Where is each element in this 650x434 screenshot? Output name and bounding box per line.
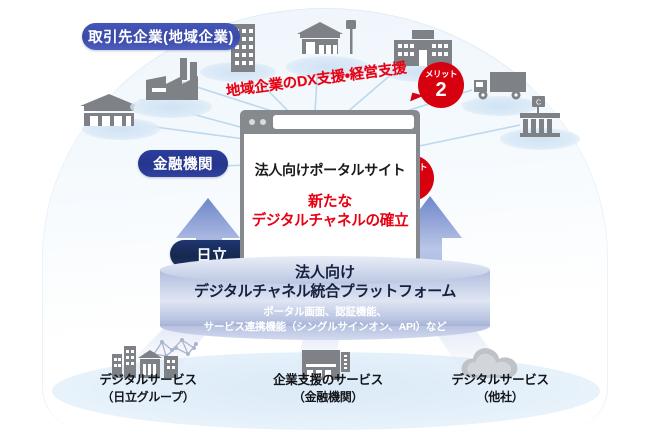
service-owner: （他社） bbox=[430, 389, 570, 405]
service-name: デジタルサービス bbox=[451, 373, 548, 387]
factory-icon bbox=[142, 56, 202, 109]
service-owner: （金融機関） bbox=[248, 389, 408, 405]
browser-titlebar bbox=[240, 110, 420, 134]
browser-address-bar[interactable] bbox=[273, 115, 414, 129]
browser-dot-icon bbox=[249, 119, 255, 125]
service-owner: （日立グループ） bbox=[78, 389, 218, 405]
warehouse-icon bbox=[78, 92, 140, 133]
browser-content: 法人向けポータルサイト 新たな デジタルチャネルの確立 bbox=[240, 134, 420, 270]
merit-number: 2 bbox=[435, 80, 446, 100]
svg-text:C: C bbox=[536, 99, 541, 106]
shop-storefront-icon bbox=[296, 18, 360, 69]
badge-partner-companies: 取引先企業(地域企業) bbox=[82, 23, 240, 50]
portal-browser-window: 法人向けポータルサイト 新たな デジタルチャネルの確立 bbox=[240, 110, 420, 270]
platform-sub-line1: ポータル画面、認証機能、 bbox=[160, 305, 490, 320]
badge-financial-institution: 金融機関 bbox=[138, 150, 228, 177]
service-label-financial: 企業支援のサービス （金融機関） bbox=[248, 372, 408, 405]
diagram-canvas: C 取引先企業(地域企業) 金融機関 日立 地域企業のDX支援・経営支援 メリッ… bbox=[0, 0, 650, 434]
portal-highlight-line1: 新たな bbox=[308, 193, 352, 210]
service-label-hitachi-group: デジタルサービス （日立グループ） bbox=[78, 372, 218, 405]
platform-text-block: 法人向け デジタルチャネル統合プラットフォーム ポータル画面、認証機能、 サービ… bbox=[160, 264, 490, 335]
portal-highlight-line2: デジタルチャネルの確立 bbox=[246, 212, 414, 232]
platform-line1: 法人向け bbox=[160, 264, 490, 283]
platform-cylinder: 法人向け デジタルチャネル統合プラットフォーム ポータル画面、認証機能、 サービ… bbox=[160, 256, 490, 340]
merit-badge-2: メリット 2 bbox=[418, 62, 464, 108]
service-name: 企業支援のサービス bbox=[273, 373, 383, 387]
bank-columns-icon: C bbox=[518, 96, 562, 145]
platform-sub-line2: サービス連携機能（シングルサインオン、API）など bbox=[160, 320, 490, 335]
merit-label: メリット bbox=[425, 70, 457, 79]
platform-line2: デジタルチャネル統合プラットフォーム bbox=[160, 283, 490, 302]
portal-highlight-text: 新たな デジタルチャネルの確立 bbox=[246, 192, 414, 232]
service-name: デジタルサービス bbox=[99, 373, 196, 387]
portal-site-title: 法人向けポータルサイト bbox=[246, 160, 414, 180]
browser-dot-icon bbox=[260, 119, 266, 125]
service-label-other-company: デジタルサービス （他社） bbox=[430, 372, 570, 405]
